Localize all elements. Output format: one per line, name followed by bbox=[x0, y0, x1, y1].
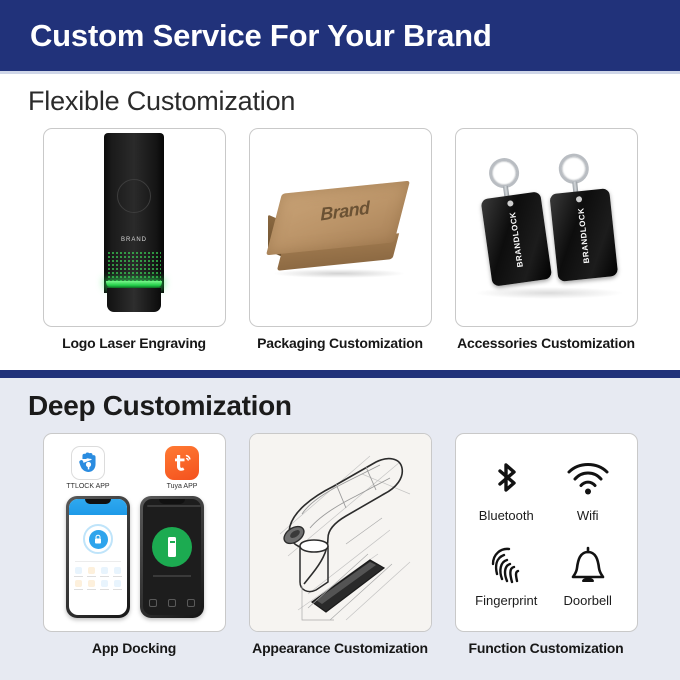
app-feature-cell bbox=[73, 580, 85, 590]
app-name: Tuya APP bbox=[167, 483, 198, 490]
section-heading-flexible: Flexible Customization bbox=[0, 74, 680, 117]
phone-screen-dark bbox=[143, 499, 201, 615]
unlock-action-button[interactable] bbox=[152, 527, 192, 567]
app-bottom-nav[interactable] bbox=[149, 599, 195, 607]
card-app-docking[interactable]: TTLOCK APP Tuya APP bbox=[43, 433, 226, 656]
phone-notch bbox=[159, 499, 185, 504]
function-item-doorbell[interactable]: Doorbell bbox=[547, 534, 629, 620]
card-image-app-docking: TTLOCK APP Tuya APP bbox=[43, 433, 226, 632]
card-function-customization[interactable]: Bluetooth Wifi bbox=[455, 433, 638, 656]
lock-green-glow bbox=[106, 281, 162, 288]
card-image-smart-lock: BRAND bbox=[43, 128, 226, 327]
box-shadow bbox=[274, 269, 404, 278]
key-ring-icon bbox=[557, 152, 590, 185]
card-image-key-fobs: BRANDLOCK BRANDLOCK bbox=[455, 128, 638, 327]
fingerprint-icon bbox=[485, 544, 527, 588]
phone-mockup-dark bbox=[140, 496, 204, 618]
key-ring-icon bbox=[487, 156, 521, 190]
key-fob-tag: BRANDLOCK bbox=[480, 191, 552, 286]
hand-keyhole-icon bbox=[71, 446, 105, 480]
card-row-deep: TTLOCK APP Tuya APP bbox=[0, 433, 680, 656]
app-icons-row: TTLOCK APP Tuya APP bbox=[44, 446, 226, 490]
page-header: Custom Service For Your Brand bbox=[0, 0, 680, 71]
lock-halftone-pattern bbox=[107, 251, 161, 283]
app-feature-cell bbox=[86, 580, 98, 590]
phone-mockup-light bbox=[66, 496, 130, 618]
function-label: Doorbell bbox=[564, 593, 612, 608]
phone-screen-light bbox=[69, 499, 127, 615]
lock-status-ring bbox=[83, 524, 113, 554]
card-label: Accessories Customization bbox=[457, 335, 635, 351]
key-fob-left: BRANDLOCK bbox=[475, 153, 554, 290]
section-heading-deep: Deep Customization bbox=[0, 378, 680, 422]
bluetooth-icon bbox=[486, 459, 526, 503]
key-fob-brand-text: BRANDLOCK bbox=[575, 195, 592, 276]
app-feature-cell bbox=[111, 580, 123, 590]
key-fob-brand-text: BRANDLOCK bbox=[506, 199, 526, 279]
card-image-function-grid: Bluetooth Wifi bbox=[455, 433, 638, 632]
page-title: Custom Service For Your Brand bbox=[30, 18, 492, 54]
app-divider bbox=[75, 561, 121, 562]
wifi-icon bbox=[565, 459, 611, 503]
lock-brand-text: BRAND bbox=[104, 237, 164, 243]
card-image-appearance-sketch bbox=[249, 433, 432, 632]
card-image-cardboard-box: Brand bbox=[249, 128, 432, 327]
card-label: App Docking bbox=[92, 640, 176, 656]
app-feature-cell bbox=[86, 567, 98, 577]
phone-notch bbox=[85, 499, 111, 504]
function-label: Fingerprint bbox=[475, 593, 537, 608]
tuya-t-icon bbox=[165, 446, 199, 480]
section-divider bbox=[0, 370, 680, 378]
app-feature-cell bbox=[111, 567, 123, 577]
lock-device-icon bbox=[168, 537, 176, 557]
card-logo-laser-engraving[interactable]: BRAND Logo Laser Engraving bbox=[43, 128, 226, 351]
card-label: Packaging Customization bbox=[257, 335, 423, 351]
app-feature-grid bbox=[73, 567, 123, 590]
card-appearance-customization[interactable]: Appearance Customization bbox=[249, 433, 432, 656]
function-label: Wifi bbox=[577, 508, 599, 523]
app-feature-cell bbox=[99, 567, 111, 577]
function-icon-grid: Bluetooth Wifi bbox=[456, 434, 638, 632]
doorbell-icon bbox=[567, 544, 609, 588]
function-item-wifi[interactable]: Wifi bbox=[547, 448, 629, 534]
lock-touch-circle-icon bbox=[117, 179, 151, 213]
key-fob-right: BRANDLOCK bbox=[545, 150, 620, 286]
nav-item[interactable] bbox=[149, 599, 157, 607]
function-item-bluetooth[interactable]: Bluetooth bbox=[466, 448, 548, 534]
app-item-tuya[interactable]: Tuya APP bbox=[153, 446, 211, 490]
function-label: Bluetooth bbox=[479, 508, 534, 523]
nav-item[interactable] bbox=[187, 599, 195, 607]
key-fobs-illustration: BRANDLOCK BRANDLOCK bbox=[456, 129, 638, 327]
card-packaging-customization[interactable]: Brand Packaging Customization bbox=[249, 128, 432, 351]
card-label: Logo Laser Engraving bbox=[62, 335, 206, 351]
app-name: TTLOCK APP bbox=[66, 483, 109, 490]
card-label: Appearance Customization bbox=[252, 640, 428, 656]
padlock-icon bbox=[89, 530, 108, 549]
key-fob-shadow bbox=[474, 287, 624, 299]
door-handle-sketch-illustration bbox=[250, 434, 432, 632]
card-accessories-customization[interactable]: BRANDLOCK BRANDLOCK Accessories Customiz bbox=[455, 128, 638, 351]
cardboard-box-illustration: Brand bbox=[260, 173, 420, 283]
app-feature-cell bbox=[99, 580, 111, 590]
lock-base bbox=[107, 288, 161, 312]
card-label: Function Customization bbox=[468, 640, 623, 656]
smart-lock-illustration: BRAND bbox=[104, 133, 164, 326]
section-flexible-customization: Flexible Customization BRAND Logo Laser … bbox=[0, 74, 680, 370]
app-top-bar-dark bbox=[147, 505, 201, 509]
nav-item[interactable] bbox=[168, 599, 176, 607]
card-row-flexible: BRAND Logo Laser Engraving Brand Pack bbox=[0, 128, 680, 351]
phone-mockups bbox=[44, 496, 226, 618]
app-item-ttlock[interactable]: TTLOCK APP bbox=[59, 446, 117, 490]
key-fob-tag: BRANDLOCK bbox=[549, 188, 618, 282]
function-item-fingerprint[interactable]: Fingerprint bbox=[466, 534, 548, 620]
section-deep-customization: Deep Customization TTLOCK APP bbox=[0, 378, 680, 680]
app-feature-cell bbox=[73, 567, 85, 577]
app-caption-dark bbox=[153, 575, 191, 577]
